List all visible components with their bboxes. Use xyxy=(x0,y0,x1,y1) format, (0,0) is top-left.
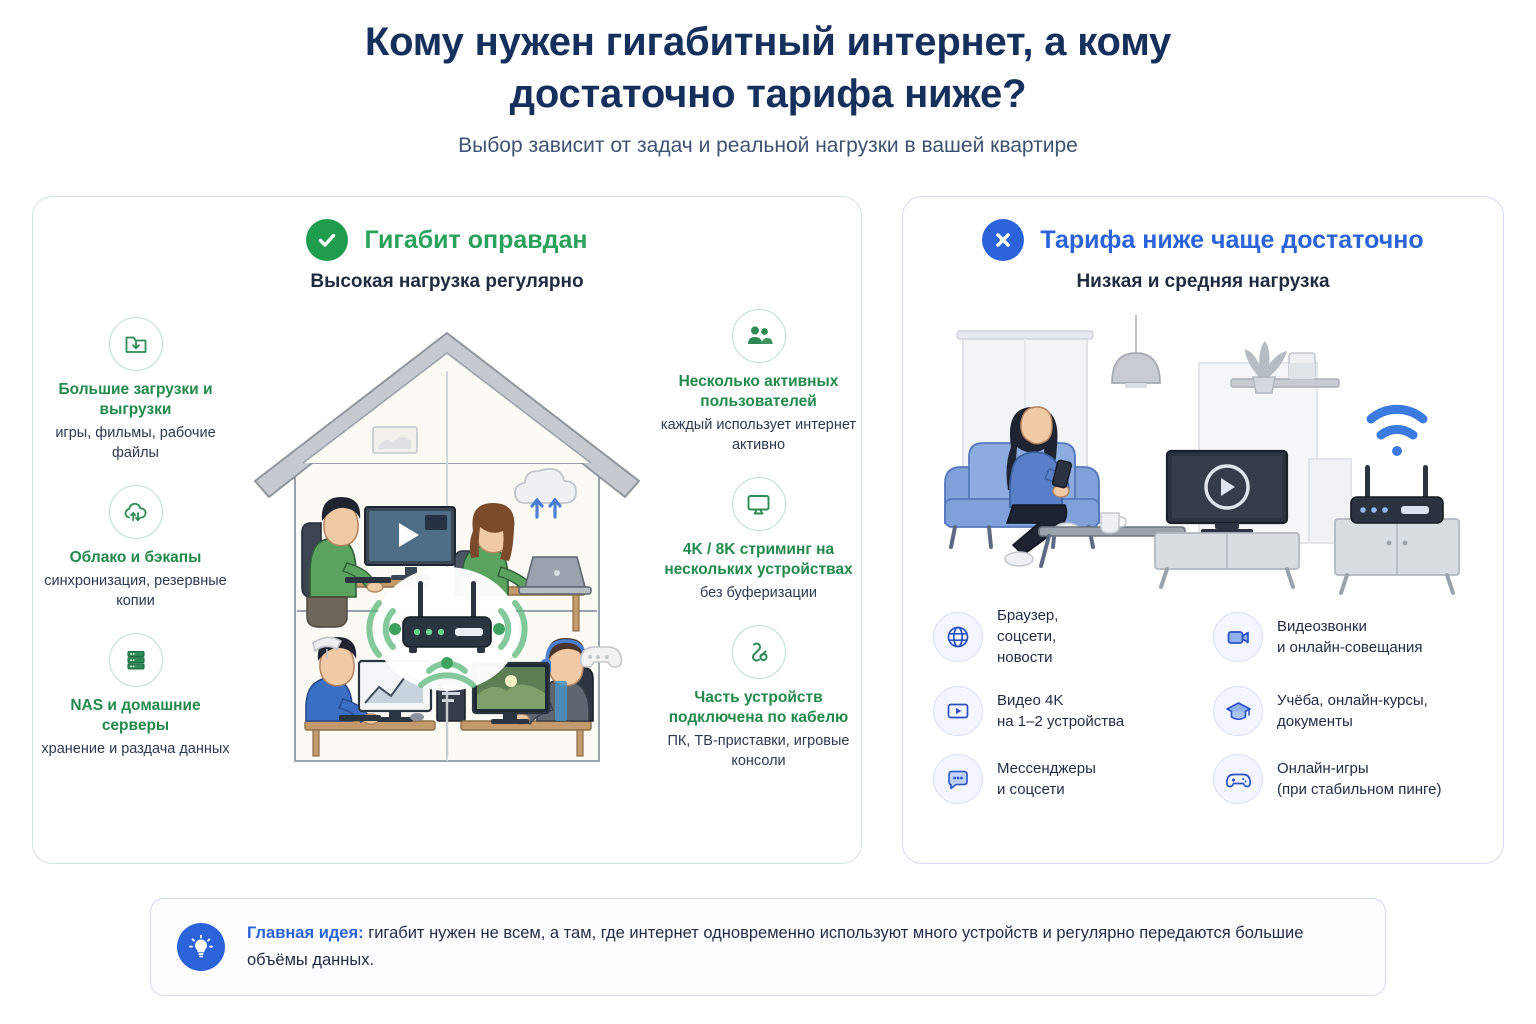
feature-desc: без буферизации xyxy=(659,583,859,603)
feature-title: NAS и домашние серверы xyxy=(36,696,236,736)
video-play-icon xyxy=(933,686,983,736)
monitor-icon xyxy=(732,477,786,531)
usecase-messengers-social: Мессенджерыи соцсети xyxy=(933,754,1197,804)
infographic-page: Кому нужен гигабитный интернет, а кому д… xyxy=(0,0,1536,1024)
right-features-column: Несколько активных пользователей каждый … xyxy=(656,307,861,873)
chat-bubble-icon xyxy=(933,754,983,804)
feature-title: Несколько активных пользователей xyxy=(659,372,859,412)
panel-lower-tariff-enough: Тарифа ниже чаще достаточно Низкая и сре… xyxy=(902,196,1504,864)
feature-large-downloads: Большие загрузки и выгрузки игры, фильмы… xyxy=(36,317,236,463)
key-idea-lead: Главная идея: xyxy=(247,924,364,942)
feature-nas-home-servers: NAS и домашние серверы хранение и раздач… xyxy=(36,633,236,759)
feature-desc: синхронизация, резервные копии xyxy=(36,571,236,611)
video-call-icon xyxy=(1213,612,1263,662)
wifi-icon xyxy=(1371,409,1423,456)
feature-wired-devices: Часть устройств подключена по кабелю ПК,… xyxy=(659,625,859,771)
feature-desc: хранение и раздача данных xyxy=(36,739,236,759)
usecase-label: Видеозвонкии онлайн-совещания xyxy=(1277,616,1423,658)
left-panel-body: Большие загрузки и выгрузки игры, фильмы… xyxy=(33,307,861,873)
feature-title: Облако и бэкапы xyxy=(36,548,236,568)
lightbulb-icon xyxy=(177,923,225,971)
feature-desc: каждый использует интернет активно xyxy=(659,415,859,455)
server-stack-icon xyxy=(109,633,163,687)
low-load-usecases-grid: Браузер,соцсети,новости Видеозвонкии онл… xyxy=(903,591,1503,804)
key-idea-body: гигабит нужен не всем, а там, где интерн… xyxy=(247,924,1303,969)
router-device xyxy=(1351,465,1443,523)
cloud-sync-icon xyxy=(109,485,163,539)
usecase-label: Онлайн-игры(при стабильном пинге) xyxy=(1277,758,1441,800)
folder-download-icon xyxy=(109,317,163,371)
right-panel-title: Тарифа ниже чаще достаточно xyxy=(1040,226,1423,255)
key-idea-text: Главная идея: гигабит нужен не всем, а т… xyxy=(247,920,1359,974)
globe-icon xyxy=(933,612,983,662)
usecase-video-calls: Видеозвонкии онлайн-совещания xyxy=(1213,605,1477,668)
page-header: Кому нужен гигабитный интернет, а кому д… xyxy=(0,0,1536,158)
check-circle-icon xyxy=(306,219,348,261)
router-cabinet xyxy=(1335,519,1459,593)
right-panel-subtitle: Низкая и средняя нагрузка xyxy=(903,271,1503,293)
house-illustration xyxy=(238,307,656,873)
usecase-label: Учёба, онлайн-курсы,документы xyxy=(1277,690,1428,732)
right-panel-header: Тарифа ниже чаще достаточно xyxy=(903,197,1503,261)
living-room-illustration xyxy=(903,301,1503,591)
usecase-label: Мессенджерыи соцсети xyxy=(997,758,1096,800)
usecase-browser-social-news: Браузер,соцсети,новости xyxy=(933,605,1197,668)
page-title: Кому нужен гигабитный интернет, а кому д… xyxy=(268,16,1268,120)
left-panel-subtitle: Высокая нагрузка регулярно xyxy=(33,271,861,293)
left-panel-title: Гигабит оправдан xyxy=(364,226,587,255)
panels-row: Гигабит оправдан Высокая нагрузка регуля… xyxy=(0,196,1536,864)
usecase-study-courses: Учёба, онлайн-курсы,документы xyxy=(1213,686,1477,736)
usecase-video-4k: Видео 4Kна 1–2 устройства xyxy=(933,686,1197,736)
feature-4k-8k-streaming: 4K / 8K стриминг на нескольких устройств… xyxy=(659,477,859,603)
feature-title: Часть устройств подключена по кабелю xyxy=(659,688,859,728)
left-features-column: Большие загрузки и выгрузки игры, фильмы… xyxy=(33,307,238,873)
panel-gigabit-justified: Гигабит оправдан Высокая нагрузка регуля… xyxy=(32,196,862,864)
feature-desc: игры, фильмы, рабочие файлы xyxy=(36,423,236,463)
feature-title: 4K / 8K стриминг на нескольких устройств… xyxy=(659,540,859,580)
key-idea-callout: Главная идея: гигабит нужен не всем, а т… xyxy=(150,898,1386,996)
feature-title: Большие загрузки и выгрузки xyxy=(36,380,236,420)
usecase-online-games: Онлайн-игры(при стабильном пинге) xyxy=(1213,754,1477,804)
tv-stand xyxy=(1155,533,1299,587)
tv-with-play xyxy=(1167,451,1287,534)
usecase-label: Видео 4Kна 1–2 устройства xyxy=(997,690,1124,732)
graduation-cap-icon xyxy=(1213,686,1263,736)
page-subtitle: Выбор зависит от задач и реальной нагруз… xyxy=(0,134,1536,158)
cross-circle-icon xyxy=(982,219,1024,261)
feature-desc: ПК, ТВ-приставки, игровые консоли xyxy=(659,731,859,771)
usecase-label: Браузер,соцсети,новости xyxy=(997,605,1058,668)
feature-cloud-backups: Облако и бэкапы синхронизация, резервные… xyxy=(36,485,236,611)
ethernet-cable-icon xyxy=(732,625,786,679)
feature-multiple-users: Несколько активных пользователей каждый … xyxy=(659,309,859,455)
users-group-icon xyxy=(732,309,786,363)
left-panel-header: Гигабит оправдан xyxy=(33,197,861,261)
gamepad-icon xyxy=(1213,754,1263,804)
